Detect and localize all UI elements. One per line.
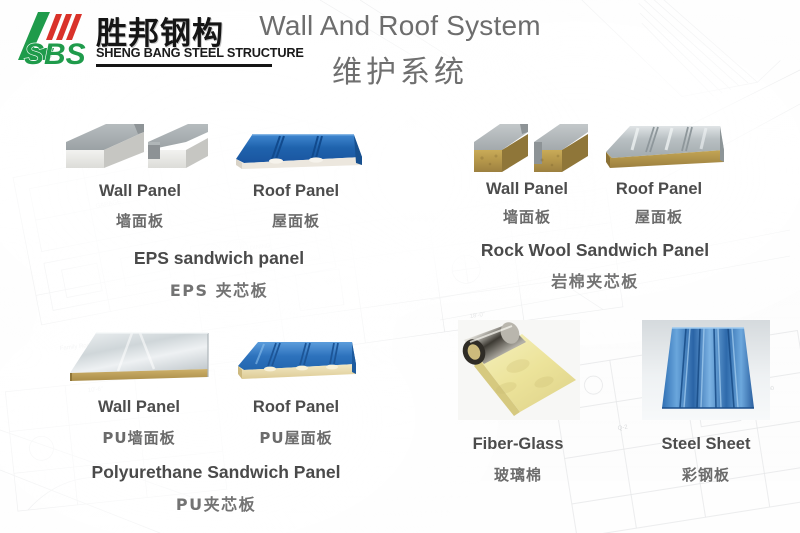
fiber-glass-image <box>458 320 580 420</box>
steel-sheet-label-en: Steel Sheet <box>662 435 751 454</box>
rock-wool-wall-panel-label-en: Wall Panel <box>486 180 568 199</box>
pu-group-label-cn: PU夹芯板 <box>176 491 256 515</box>
steel-sheet-image <box>642 320 770 420</box>
pu-roof-panel-label-cn: PU屋面板 <box>259 427 332 448</box>
pu-roof-panel-label-en: Roof Panel <box>253 398 339 417</box>
fiber-glass-label-cn: 玻璃棉 <box>494 464 542 485</box>
eps-group-label-en: EPS sandwich panel <box>134 248 304 269</box>
pu-wall-panel-label-en: Wall Panel <box>98 398 180 417</box>
pu-group-label-en: Polyurethane Sandwich Panel <box>92 462 341 483</box>
pu-wall-panel-label-cn: PU墙面板 <box>102 427 175 448</box>
svg-text:Q-2: Q-2 <box>617 424 628 432</box>
rock-wool-wall-panel-label-cn: 墙面板 <box>503 206 551 227</box>
steel-sheet-label-cn: 彩钢板 <box>682 464 730 485</box>
eps-wall-panel-image <box>62 112 212 174</box>
eps-roof-panel-image <box>230 125 364 175</box>
eps-roof-panel-label-en: Roof Panel <box>253 182 339 201</box>
svg-text:10'-6": 10'-6" <box>88 386 104 394</box>
pu-wall-panel-image <box>62 327 217 385</box>
rock-wool-roof-panel-label-en: Roof Panel <box>616 180 702 199</box>
rock-wool-roof-panel-label-cn: 屋面板 <box>635 206 683 227</box>
eps-roof-panel-label-cn: 屋面板 <box>272 210 320 231</box>
rock-wool-wall-panel-image <box>472 116 590 182</box>
page-title-chinese: 维护系统 <box>0 47 800 91</box>
rock-wool-roof-panel-image <box>602 116 728 178</box>
rock-wool-group-label-en: Rock Wool Sandwich Panel <box>481 240 709 261</box>
rock-wool-group-label-cn: 岩棉夹芯板 <box>551 268 639 292</box>
page-title-english: Wall And Roof System <box>0 10 800 42</box>
eps-wall-panel-label-en: Wall Panel <box>99 182 181 201</box>
fiber-glass-label-en: Fiber-Glass <box>473 435 564 454</box>
pu-roof-panel-image <box>234 334 360 382</box>
svg-text:18'-0": 18'-0" <box>469 312 485 320</box>
eps-wall-panel-label-cn: 墙面板 <box>116 210 164 231</box>
eps-group-label-cn: EPS 夹芯板 <box>170 277 268 301</box>
slide-canvas: GARAGE DINING 18'-0" Family Room Q-2 C89… <box>0 0 800 533</box>
